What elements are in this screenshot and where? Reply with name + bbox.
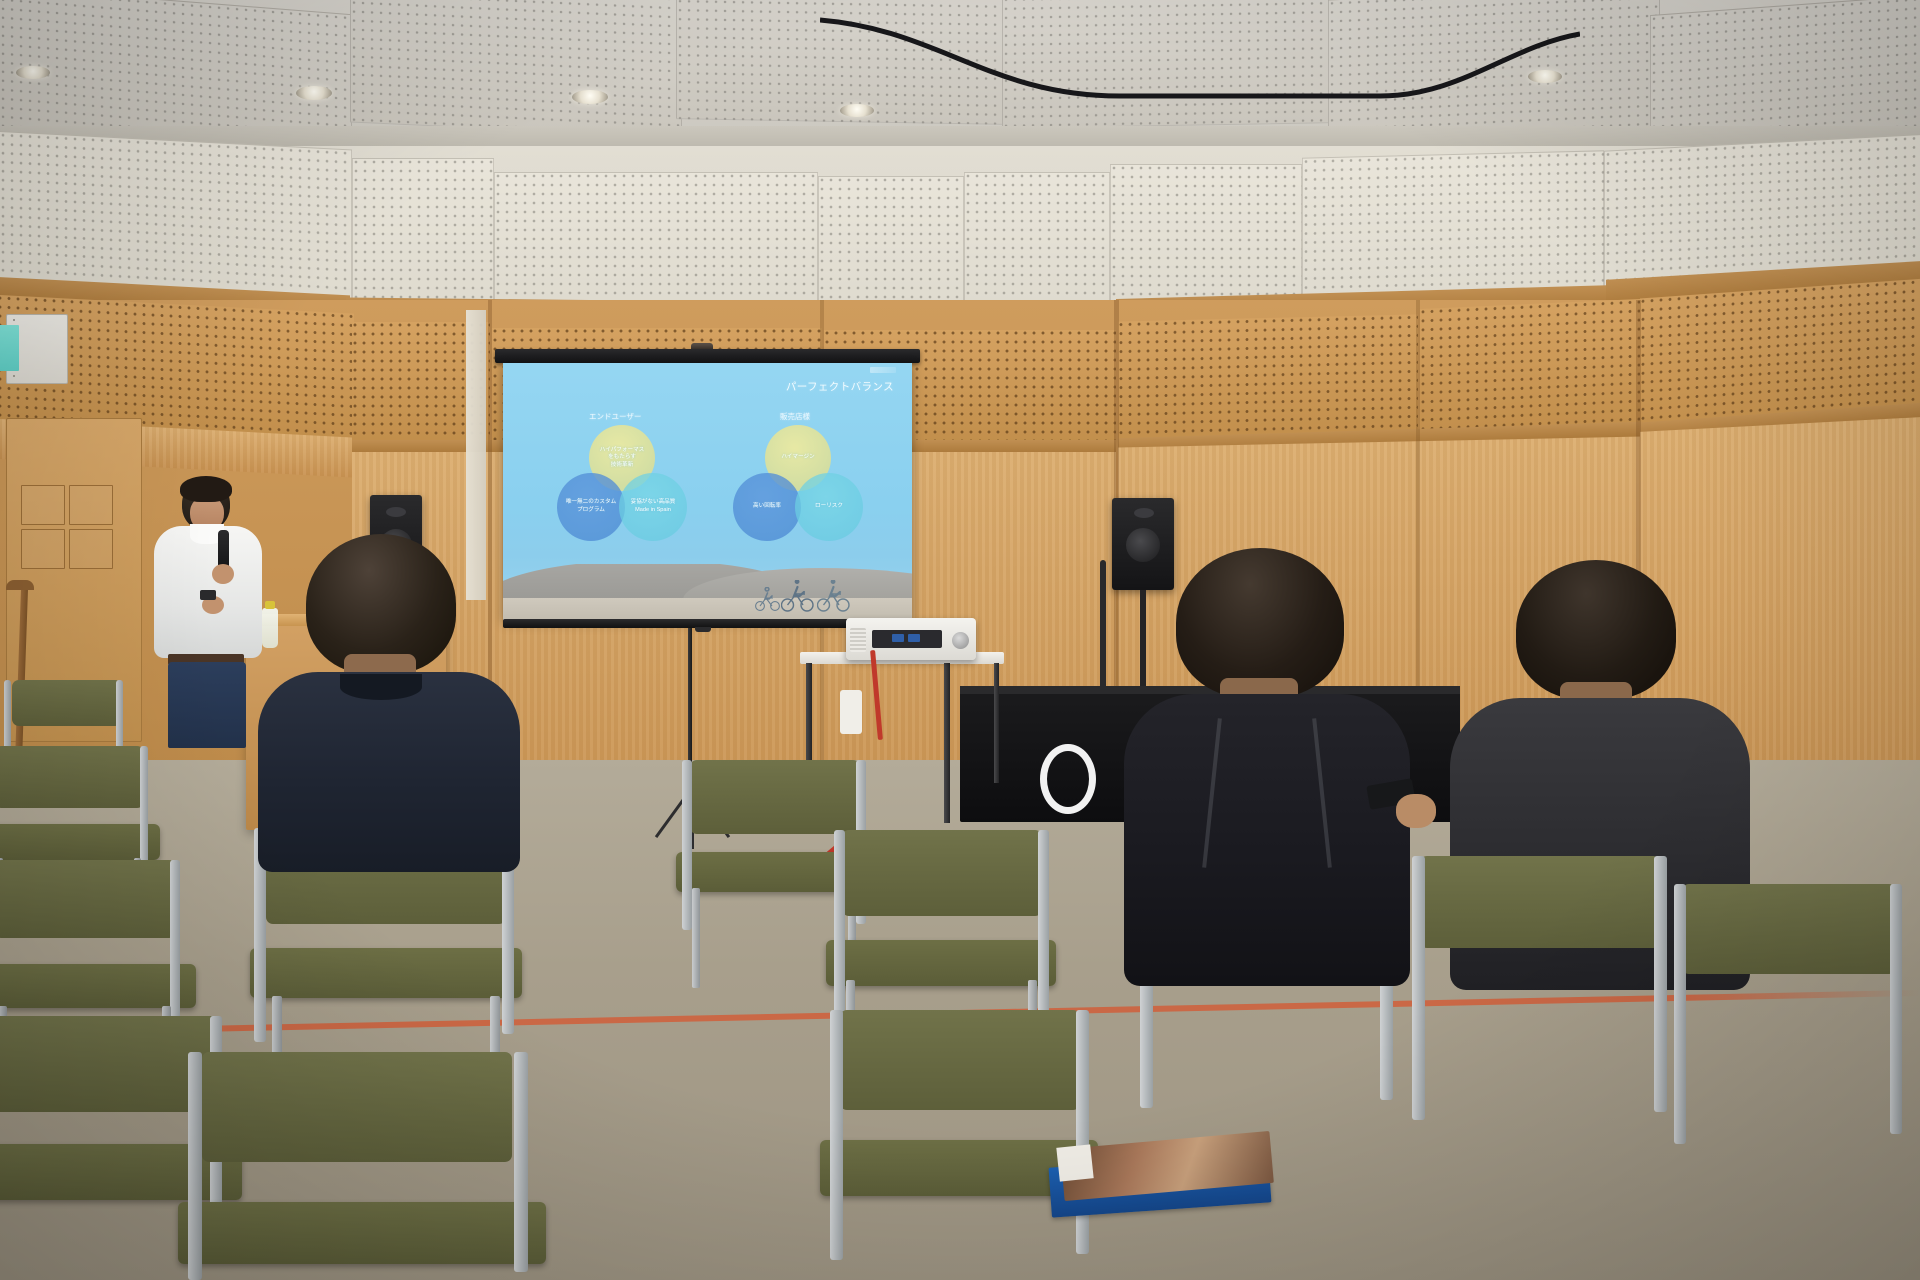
- projector-port-blue: [892, 634, 904, 642]
- projector-lens: [952, 632, 969, 649]
- ceiling-light: [572, 90, 608, 104]
- venn-turnover: 高い回転率: [733, 473, 801, 541]
- venn-custom-program-label: 唯一無二のカスタムプログラム: [563, 499, 619, 514]
- group-label-retailer: 販売店様: [780, 411, 810, 422]
- venn-high-margin-label: ハイマージン: [778, 454, 817, 462]
- cyclist-icon: [817, 580, 851, 612]
- chair[interactable]: [1666, 884, 1920, 1174]
- attendee-jacket: [1124, 694, 1410, 986]
- chair[interactable]: [1400, 856, 1700, 1146]
- venn-innovation-label: ハイパフォーマスをもたらす技術革新: [597, 447, 648, 470]
- cane-handle: [6, 580, 34, 590]
- projector-cable-bundle: [840, 690, 862, 734]
- projector-table-leg: [944, 663, 950, 823]
- attendee-head: [1176, 548, 1344, 698]
- slide-logo-mark: [870, 367, 896, 373]
- venn-low-risk: ローリスク: [795, 473, 863, 541]
- attendee-hand: [1396, 794, 1436, 828]
- screen-pull-handle[interactable]: [695, 627, 711, 632]
- presenter-hair: [180, 476, 232, 502]
- screen-top-bar: [495, 349, 920, 363]
- ceiling-light: [296, 86, 332, 100]
- attendee-front-left: [248, 534, 528, 864]
- slide-footer-image: [503, 564, 912, 620]
- ceiling-light: [16, 66, 50, 79]
- projection-screen: パーフェクトバランス エンドユーザー ハイパフォーマスをもたらす技術革新 唯一無…: [495, 349, 920, 649]
- projector-ports: [872, 630, 942, 648]
- venn-low-risk-label: ローリスク: [812, 503, 846, 511]
- attendee-head: [306, 534, 456, 674]
- cyclist-icon: [781, 580, 815, 612]
- venn-turnover-label: 高い回転率: [750, 503, 784, 511]
- venn-quality-label: 妥協がない高品質Made in Spain: [628, 499, 679, 514]
- venn-custom-program: 唯一無二のカスタムプログラム: [557, 473, 625, 541]
- ceiling-cable: [820, 0, 1580, 120]
- panel-display: [0, 325, 19, 371]
- screen-surface: パーフェクトバランス エンドユーザー ハイパフォーマスをもたらす技術革新 唯一無…: [503, 363, 912, 620]
- attendee-collar: [340, 674, 422, 700]
- presenter-trousers: [168, 662, 246, 748]
- group-label-end-user: エンドユーザー: [589, 411, 641, 422]
- presenter-clicker[interactable]: [200, 590, 216, 600]
- attendee-head: [1516, 560, 1676, 700]
- projected-slide: パーフェクトバランス エンドユーザー ハイパフォーマスをもたらす技術革新 唯一無…: [503, 363, 912, 620]
- projector-vent: [850, 628, 866, 652]
- slide-title: パーフェクトバランス: [786, 379, 894, 394]
- attendee-right: [1124, 548, 1404, 988]
- wall-control-panel[interactable]: [6, 314, 68, 384]
- venn-quality: 妥協がない高品質Made in Spain: [619, 473, 687, 541]
- magazine-page-corner: [1056, 1144, 1093, 1181]
- projector[interactable]: [846, 618, 976, 660]
- oval-o-logo: [1040, 744, 1096, 814]
- chair[interactable]: [178, 1052, 578, 1280]
- presenter-hand: [212, 564, 234, 584]
- projector-table-leg: [994, 663, 999, 783]
- projector-port-blue: [908, 634, 920, 642]
- cyclist-icon: [755, 587, 781, 611]
- attendee-shirt: [258, 672, 520, 872]
- room-photo-scene: パーフェクトバランス エンドユーザー ハイパフォーマスをもたらす技術革新 唯一無…: [0, 0, 1920, 1280]
